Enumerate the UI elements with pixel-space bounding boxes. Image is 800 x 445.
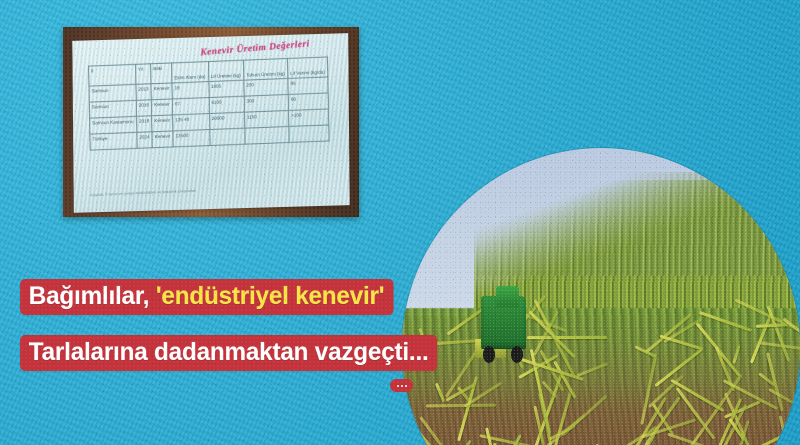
table-cell: 95 — [288, 77, 328, 95]
headline-line-1: Bağımlılar, 'endüstriyel kenevir' — [22, 281, 391, 313]
table-cell — [289, 125, 329, 143]
harvester-wheel-right — [511, 346, 523, 363]
table-cell: 300 — [244, 94, 289, 112]
stalk — [527, 336, 607, 339]
stalk — [434, 383, 444, 403]
table-cell: Samsun Kastamonu — [90, 116, 137, 134]
stalk — [655, 348, 704, 387]
table-cell: 200 — [244, 79, 289, 97]
table-cell: 19 — [172, 82, 209, 99]
stalk — [577, 362, 609, 377]
stalk — [768, 388, 796, 405]
table-cell: Türkiye — [90, 132, 137, 150]
combine-harvester-icon — [478, 284, 530, 360]
stalk — [732, 345, 740, 364]
headline-line-2: Tarlalarına dadanmaktan vazgeçti... — [22, 337, 435, 369]
stalk — [644, 313, 692, 354]
cut-hemp-stalks — [402, 300, 800, 445]
badge-dot-3 — [405, 385, 407, 387]
red-pill-badge[interactable] — [390, 379, 413, 392]
table-cell: 135 40 — [173, 114, 210, 131]
harvester-wheel-left — [483, 346, 495, 363]
col-lif-verimi: Lif Verimi (kg/da) — [288, 57, 328, 79]
stalk — [699, 311, 752, 332]
badge-dot-2 — [401, 385, 403, 387]
stalk — [671, 379, 725, 412]
headline-quoted-term: 'endüstriyel kenevir' — [156, 282, 385, 310]
paper-title: Kenevir Üretim Değerleri — [200, 39, 310, 58]
table-cell: >100 — [289, 109, 329, 127]
col-yil: Yıl — [135, 64, 151, 85]
hemp-production-table: İl Yıl Bitki Ekim Alanı (da) Lif Üretimi… — [88, 56, 330, 150]
stalk — [756, 323, 788, 328]
col-bitki: Bitki — [151, 63, 172, 84]
table-cell: 2018 — [136, 116, 152, 133]
table-cell: 2016 — [136, 100, 152, 117]
headline-line-1-pre: Bağımlılar, — [29, 282, 156, 310]
table-cell: Samsun — [89, 84, 136, 102]
col-lif-uretimi: Lif Üretimi (kg) — [208, 60, 244, 81]
table-cell: Kenevir — [151, 99, 172, 116]
col-ekim-alani: Ekim Alanı (da) — [172, 62, 209, 83]
table-cell: Kenevir — [152, 115, 173, 132]
table-cell: Samsun — [89, 100, 136, 118]
table-cell: 1150 — [244, 110, 289, 128]
table-cell: 2024 — [137, 132, 153, 149]
field-photo — [402, 148, 800, 445]
hemp-canopy-tops — [474, 172, 800, 276]
badge-dot-1 — [397, 385, 399, 387]
table-cell: 6100 — [209, 96, 245, 113]
harvester-cab — [496, 286, 519, 307]
table-cell: Kenevir — [151, 83, 172, 100]
table-cell: 67 — [172, 98, 209, 115]
table-cell: 13500 — [173, 130, 210, 147]
table-cell: 2013 — [136, 84, 152, 101]
stalk — [744, 427, 798, 445]
paper-sheet: Kenevir Üretim Değerleri İl Yıl Bitki Ek… — [72, 33, 349, 213]
paper-footnote: Kaynak: İl tarım ve orman müdürlükleri v… — [91, 189, 197, 197]
col-il: İl — [89, 64, 136, 86]
table-cell: 1805 — [208, 80, 244, 97]
table-cell: 90 — [288, 93, 328, 111]
table-cell — [245, 126, 290, 144]
stalk — [426, 404, 496, 408]
printed-table-photo: Kenevir Üretim Değerleri İl Yıl Bitki Ek… — [63, 27, 359, 217]
col-tohum-uretimi: Tohum Üretimi (kg) — [243, 59, 288, 81]
table-cell: 20000 — [209, 112, 245, 129]
table-body: Samsun2013Kenevir19180520095Samsun2016Ke… — [89, 77, 329, 150]
table-cell — [209, 128, 245, 145]
table-cell: Kenevir — [152, 131, 173, 148]
poster-canvas: Kenevir Üretim Değerleri İl Yıl Bitki Ek… — [0, 0, 800, 445]
